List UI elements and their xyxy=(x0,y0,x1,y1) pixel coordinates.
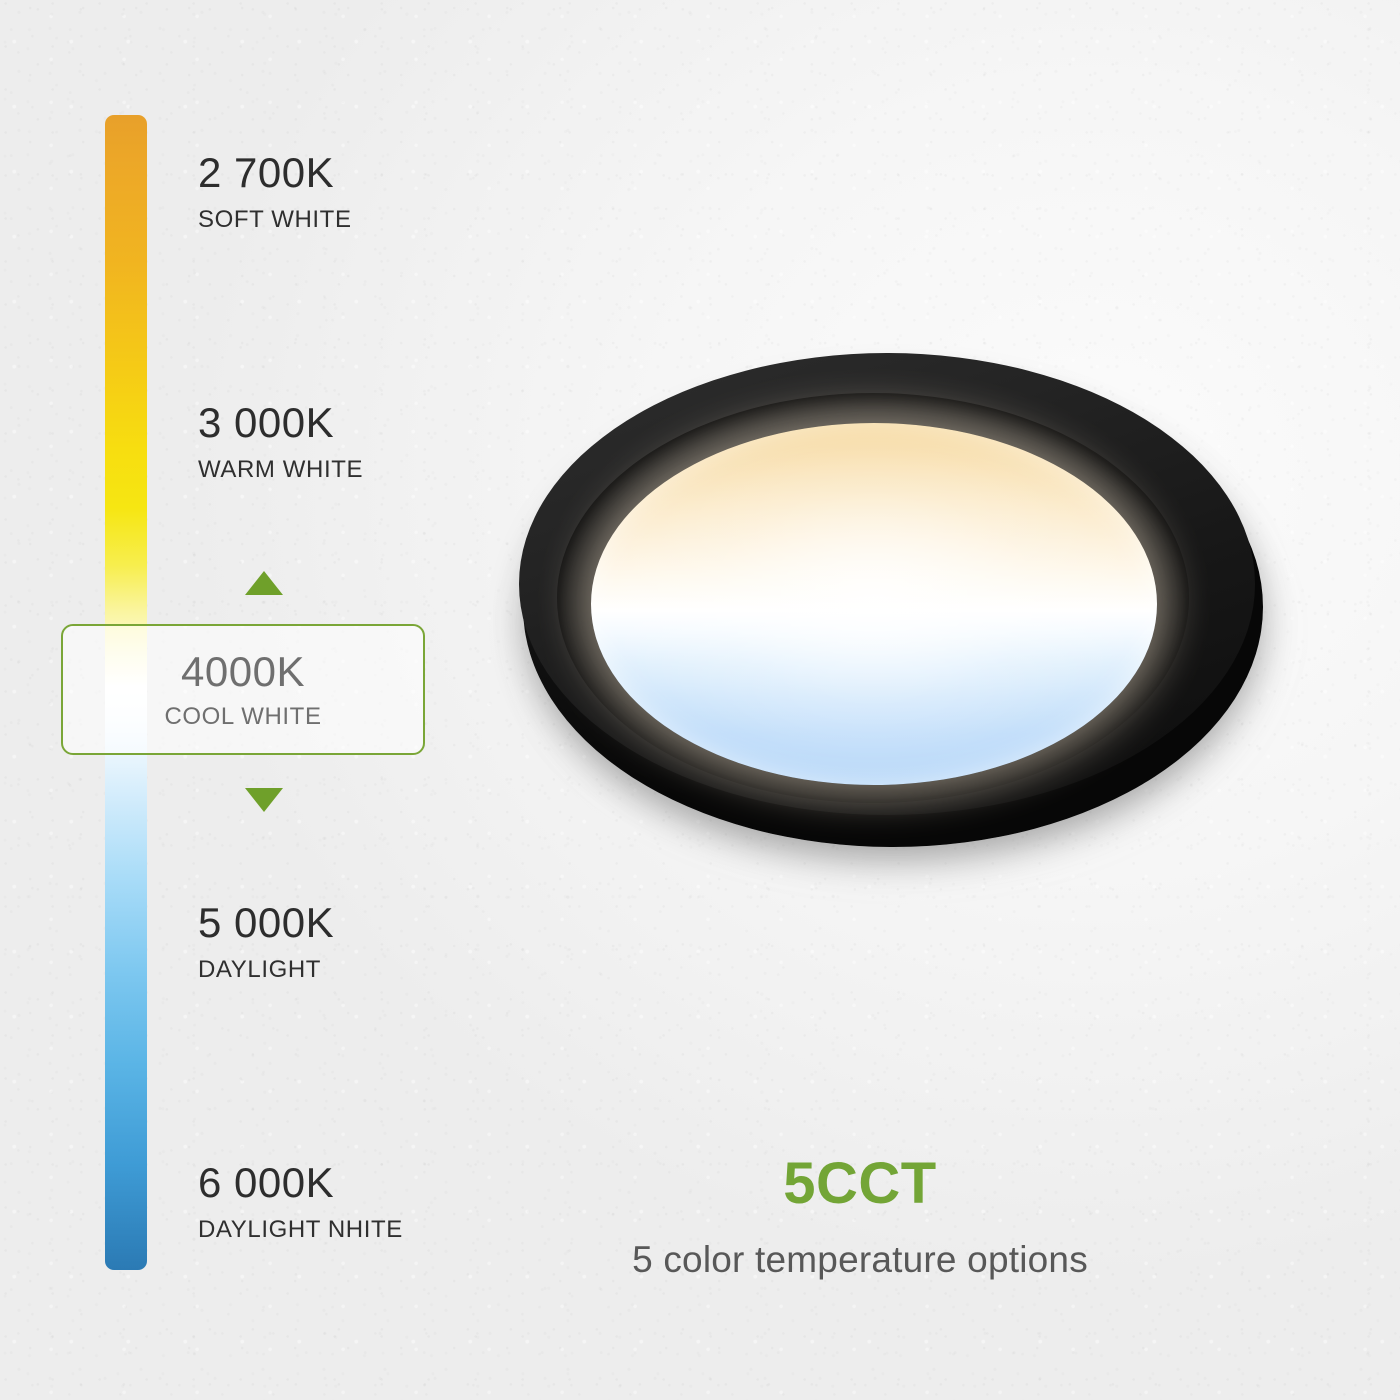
scale-step-name: WARM WHITE xyxy=(198,458,363,482)
scale-step-kelvin: 3 000K xyxy=(198,402,363,444)
fixture-diffuser-lens xyxy=(591,423,1157,785)
scale-step-kelvin: 4000K xyxy=(181,651,305,693)
scale-step-name: DAYLIGHT xyxy=(198,958,334,982)
scale-step-6000k: 6 000K DAYLIGHT NHITE xyxy=(198,1162,403,1242)
product-image xyxy=(505,345,1295,885)
infographic-canvas: 2 700K SOFT WHITE 3 000K WARM WHITE 4000… xyxy=(0,0,1400,1400)
caption-title: 5CCT xyxy=(560,1155,1160,1213)
triangle-down-icon[interactable] xyxy=(245,788,283,812)
scale-step-name: SOFT WHITE xyxy=(198,208,352,232)
scale-step-kelvin: 5 000K xyxy=(198,902,334,944)
scale-step-3000k: 3 000K WARM WHITE xyxy=(198,402,363,482)
scale-step-2700k: 2 700K SOFT WHITE xyxy=(198,152,352,232)
scale-step-kelvin: 6 000K xyxy=(198,1162,403,1204)
selected-temperature-callout[interactable]: 4000K COOL WHITE xyxy=(61,624,425,755)
scale-step-name: COOL WHITE xyxy=(164,705,321,729)
triangle-up-icon[interactable] xyxy=(245,571,283,595)
caption-block: 5CCT 5 color temperature options xyxy=(560,1155,1160,1278)
caption-subtitle: 5 color temperature options xyxy=(560,1241,1160,1278)
scale-step-kelvin: 2 700K xyxy=(198,152,352,194)
scale-step-name: DAYLIGHT NHITE xyxy=(198,1218,403,1242)
scale-step-5000k: 5 000K DAYLIGHT xyxy=(198,902,334,982)
